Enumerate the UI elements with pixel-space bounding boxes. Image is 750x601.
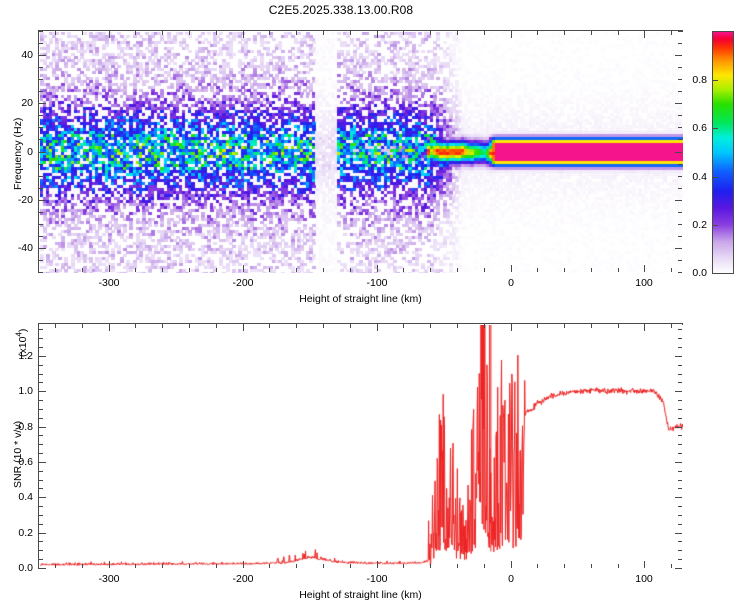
axis-tick: [644, 561, 645, 568]
axis-tick: [269, 564, 270, 568]
axis-tick: [678, 329, 682, 330]
axis-tick: [39, 497, 46, 498]
spectrogram-x-axis-title: Height of straight line (km): [299, 293, 422, 305]
axis-tick: [39, 115, 43, 116]
axis-tick: [678, 382, 682, 383]
y-tick-label: 1.0: [0, 385, 33, 397]
axis-tick: [675, 462, 682, 463]
colorbar-tick-label: 0.2: [0, 219, 707, 231]
axis-tick: [39, 506, 43, 507]
axis-tick: [39, 91, 43, 92]
spectrogram-panel: [38, 30, 683, 273]
axis-tick: [678, 115, 682, 116]
axis-tick: [678, 31, 682, 32]
x-tick-label: -100: [366, 573, 387, 585]
axis-tick: [675, 248, 682, 249]
colorbar-tick: [713, 273, 718, 274]
snr-trace: [40, 325, 683, 569]
axis-tick: [39, 427, 46, 428]
colorbar-tick: [713, 177, 718, 178]
axis-tick: [39, 374, 43, 375]
axis-tick: [39, 152, 46, 153]
axis-tick: [678, 409, 682, 410]
axis-tick: [39, 488, 43, 489]
axis-tick: [189, 324, 190, 328]
axis-tick: [678, 374, 682, 375]
y-tick-label: 40: [0, 49, 33, 61]
axis-tick: [39, 550, 43, 551]
axis-tick: [591, 324, 592, 328]
axis-tick: [39, 382, 43, 383]
axis-tick: [39, 347, 43, 348]
axis-tick: [484, 564, 485, 568]
axis-tick: [678, 541, 682, 542]
axis-tick: [39, 236, 43, 237]
axis-tick: [162, 324, 163, 328]
axis-tick: [675, 391, 682, 392]
axis-tick: [39, 541, 43, 542]
axis-tick: [323, 324, 324, 328]
x-tick-label: 100: [635, 573, 653, 585]
axis-tick: [377, 31, 378, 38]
axis-tick: [678, 471, 682, 472]
axis-tick: [678, 550, 682, 551]
axis-tick: [323, 31, 324, 35]
axis-tick: [644, 324, 645, 331]
axis-tick: [39, 31, 43, 32]
axis-tick: [678, 524, 682, 525]
spectrogram-image: [40, 32, 683, 273]
axis-tick: [39, 568, 46, 569]
axis-tick: [457, 564, 458, 568]
colorbar-tick: [713, 225, 718, 226]
axis-tick: [162, 31, 163, 35]
axis-tick: [82, 324, 83, 328]
axis-tick: [39, 480, 43, 481]
axis-tick: [135, 31, 136, 35]
axis-tick: [39, 139, 43, 140]
axis-tick: [39, 188, 43, 189]
axis-tick: [618, 324, 619, 328]
axis-tick: [678, 347, 682, 348]
axis-tick: [109, 561, 110, 568]
axis-tick: [430, 564, 431, 568]
axis-tick: [457, 31, 458, 35]
snr-y-multiplier-label: (x104): [14, 329, 29, 357]
axis-tick: [39, 444, 43, 445]
axis-tick: [39, 212, 43, 213]
axis-tick: [403, 324, 404, 328]
axis-tick: [430, 324, 431, 328]
axis-tick: [377, 324, 378, 331]
axis-tick: [678, 559, 682, 560]
y-tick-label: -40: [0, 242, 33, 254]
colorbar-tick-label: 0.4: [0, 171, 707, 183]
axis-tick: [678, 91, 682, 92]
axis-tick: [564, 324, 565, 328]
axis-tick: [296, 564, 297, 568]
axis-tick: [82, 564, 83, 568]
axis-tick: [675, 200, 682, 201]
axis-tick: [39, 55, 46, 56]
axis-tick: [39, 391, 46, 392]
axis-tick: [644, 31, 645, 38]
axis-tick: [39, 418, 43, 419]
axis-tick: [55, 564, 56, 568]
axis-tick: [39, 435, 43, 436]
axis-tick: [162, 564, 163, 568]
colorbar-tick-label: 0.8: [0, 74, 707, 86]
axis-tick: [675, 55, 682, 56]
x-tick-label: 0: [508, 573, 514, 585]
colorbar-tick-label: 0.0: [0, 267, 707, 279]
axis-tick: [403, 564, 404, 568]
axis-tick: [591, 564, 592, 568]
y-tick-label: -20: [0, 194, 33, 206]
axis-tick: [216, 564, 217, 568]
axis-tick: [618, 564, 619, 568]
axis-tick: [39, 67, 43, 68]
axis-tick: [671, 564, 672, 568]
axis-tick: [39, 356, 46, 357]
axis-tick: [675, 533, 682, 534]
axis-tick: [675, 103, 682, 104]
axis-tick: [39, 453, 43, 454]
axis-tick: [678, 488, 682, 489]
axis-tick: [189, 564, 190, 568]
axis-tick: [678, 480, 682, 481]
axis-tick: [39, 103, 46, 104]
colorbar-gradient: [712, 31, 734, 274]
axis-tick: [678, 444, 682, 445]
axis-tick: [39, 400, 43, 401]
axis-tick: [350, 564, 351, 568]
axis-tick: [675, 356, 682, 357]
axis-tick: [678, 236, 682, 237]
axis-tick: [678, 515, 682, 516]
axis-tick: [678, 164, 682, 165]
snr-y-axis-title: SNR (10 * v/v): [12, 421, 24, 488]
axis-tick: [430, 31, 431, 35]
axis-tick: [511, 324, 512, 331]
axis-tick: [39, 164, 43, 165]
axis-tick: [564, 564, 565, 568]
y-tick-label: 0.2: [0, 527, 33, 539]
axis-tick: [675, 152, 682, 153]
x-tick-label: -200: [232, 573, 253, 585]
axis-tick: [537, 324, 538, 328]
axis-tick: [39, 43, 43, 44]
axis-tick: [296, 324, 297, 328]
axis-tick: [39, 248, 46, 249]
axis-tick: [323, 564, 324, 568]
axis-tick: [591, 31, 592, 35]
axis-tick: [484, 31, 485, 35]
axis-tick: [484, 324, 485, 328]
snr-x-axis-title: Height of straight line (km): [299, 589, 422, 601]
axis-tick: [39, 338, 43, 339]
axis-tick: [537, 564, 538, 568]
axis-tick: [678, 338, 682, 339]
axis-tick: [537, 31, 538, 35]
axis-tick: [39, 462, 46, 463]
axis-tick: [678, 400, 682, 401]
axis-tick: [39, 471, 43, 472]
axis-tick: [675, 568, 682, 569]
axis-tick: [39, 365, 43, 366]
axis-tick: [135, 324, 136, 328]
snr-panel: [38, 323, 683, 569]
axis-tick: [678, 435, 682, 436]
axis-tick: [511, 31, 512, 38]
axis-tick: [564, 31, 565, 35]
axis-tick: [82, 31, 83, 35]
axis-tick: [671, 324, 672, 328]
axis-tick: [243, 31, 244, 38]
axis-tick: [269, 31, 270, 35]
axis-tick: [216, 324, 217, 328]
axis-tick: [39, 200, 46, 201]
page-title: C2E5.2025.338.13.00.R08: [0, 3, 682, 17]
y-tick-label: 0.4: [0, 491, 33, 503]
snr-multiplier-text: (x104): [17, 329, 29, 357]
axis-tick: [678, 43, 682, 44]
axis-tick: [678, 506, 682, 507]
axis-tick: [39, 559, 43, 560]
axis-tick: [39, 515, 43, 516]
axis-tick: [216, 31, 217, 35]
axis-tick: [350, 31, 351, 35]
axis-tick: [403, 31, 404, 35]
axis-tick: [39, 524, 43, 525]
axis-tick: [350, 324, 351, 328]
figure-root: C2E5.2025.338.13.00.R08 -300-200-1000100…: [0, 0, 750, 600]
axis-tick: [678, 188, 682, 189]
axis-tick: [457, 324, 458, 328]
axis-tick: [678, 67, 682, 68]
colorbar: [712, 31, 734, 274]
axis-tick: [55, 31, 56, 35]
axis-tick: [189, 31, 190, 35]
axis-tick: [675, 427, 682, 428]
axis-tick: [109, 324, 110, 331]
axis-tick: [39, 329, 43, 330]
axis-tick: [269, 324, 270, 328]
axis-tick: [55, 324, 56, 328]
x-tick-label: -300: [98, 573, 119, 585]
axis-tick: [296, 31, 297, 35]
axis-tick: [678, 139, 682, 140]
axis-tick: [678, 418, 682, 419]
colorbar-tick: [713, 80, 718, 81]
axis-tick: [671, 31, 672, 35]
axis-tick: [109, 31, 110, 38]
colorbar-tick: [713, 128, 718, 129]
y-tick-label: 0.0: [0, 562, 33, 574]
y-tick-label: 20: [0, 97, 33, 109]
axis-tick: [511, 561, 512, 568]
axis-tick: [39, 260, 43, 261]
axis-tick: [377, 561, 378, 568]
axis-tick: [678, 260, 682, 261]
axis-tick: [678, 212, 682, 213]
axis-tick: [678, 453, 682, 454]
axis-tick: [675, 497, 682, 498]
axis-tick: [39, 409, 43, 410]
axis-tick: [39, 533, 46, 534]
axis-tick: [243, 324, 244, 331]
axis-tick: [243, 561, 244, 568]
colorbar-tick-label: 0.6: [0, 122, 707, 134]
axis-tick: [678, 365, 682, 366]
axis-tick: [618, 31, 619, 35]
axis-tick: [135, 564, 136, 568]
